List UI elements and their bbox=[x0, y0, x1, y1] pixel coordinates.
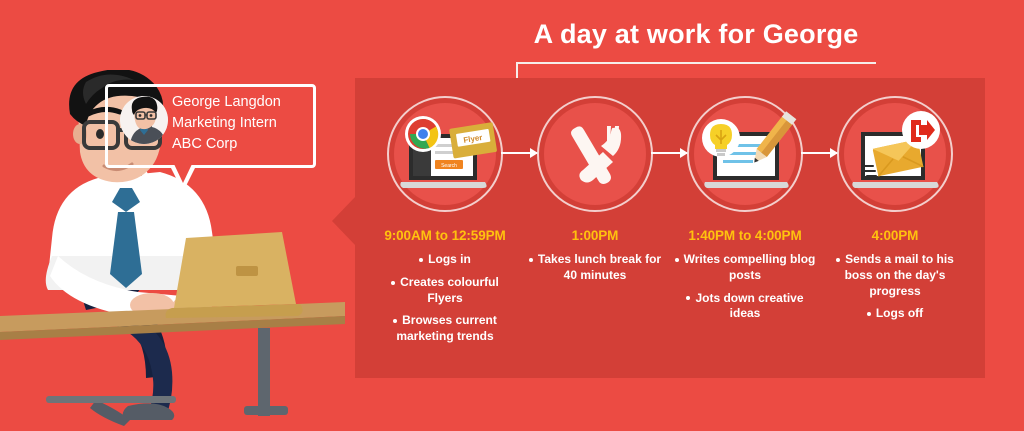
bullet-text: Creates colourful Flyers bbox=[400, 275, 499, 305]
step-2-icon-circle bbox=[537, 96, 653, 212]
bullet-text: Takes lunch break for 40 minutes bbox=[538, 252, 661, 282]
bullet-dot-icon bbox=[867, 312, 871, 316]
title-underline bbox=[516, 62, 876, 64]
timeline-step-3: 1:40PM to 4:00PM Writes compelling blog … bbox=[670, 96, 820, 329]
list-item: Jots down creative ideas bbox=[670, 291, 820, 323]
bullet-dot-icon bbox=[419, 258, 423, 262]
bullet-dot-icon bbox=[686, 296, 690, 300]
avatar bbox=[120, 96, 168, 144]
profile-company: ABC Corp bbox=[172, 134, 317, 155]
bullet-dot-icon bbox=[836, 258, 840, 262]
svg-text:Search: Search bbox=[441, 163, 457, 169]
step-3-icon-circle bbox=[687, 96, 803, 212]
timeline-step-2: 1:00PM Takes lunch break for 40 minutes bbox=[520, 96, 670, 291]
profile-info: George Langdon Marketing Intern ABC Corp bbox=[172, 92, 317, 155]
panel-pointer-notch bbox=[332, 196, 356, 246]
timeline-step-4: 4:00PM Sends a mail to his boss on the d… bbox=[820, 96, 970, 329]
step-2-bullets: Takes lunch break for 40 minutes bbox=[520, 252, 670, 284]
laptop-browser-flyer-icon: Search Flyer bbox=[387, 96, 503, 212]
step-4-time: 4:00PM bbox=[820, 228, 970, 243]
bullet-dot-icon bbox=[675, 258, 679, 262]
bullet-text: Logs in bbox=[428, 252, 471, 266]
timeline-step-1: Search Flyer 9:00AM to 12:59PM bbox=[370, 96, 520, 352]
step-4-bullets: Sends a mail to his boss on the day's pr… bbox=[820, 252, 970, 322]
step-1-icon-circle: Search Flyer bbox=[387, 96, 503, 212]
list-item: Creates colourful Flyers bbox=[370, 275, 520, 307]
bullet-text: Browses current marketing trends bbox=[396, 313, 497, 343]
laptop-lightbulb-pencil-icon bbox=[687, 96, 803, 212]
list-item: Sends a mail to his boss on the day's pr… bbox=[820, 252, 970, 299]
step-4-icon-circle bbox=[837, 96, 953, 212]
list-item: Writes compelling blog posts bbox=[670, 252, 820, 284]
list-item: Browses current marketing trends bbox=[370, 313, 520, 345]
list-item: Logs in bbox=[370, 252, 520, 268]
step-2-time: 1:00PM bbox=[520, 228, 670, 243]
list-item: Takes lunch break for 40 minutes bbox=[520, 252, 670, 284]
bullet-text: Jots down creative ideas bbox=[695, 291, 803, 321]
speech-bubble-tail-inner bbox=[174, 164, 192, 183]
bullet-dot-icon bbox=[391, 281, 395, 285]
fork-knife-icon bbox=[537, 96, 653, 212]
step-1-time: 9:00AM to 12:59PM bbox=[370, 228, 520, 243]
bullet-dot-icon bbox=[393, 319, 397, 323]
bullet-text: Writes compelling blog posts bbox=[684, 252, 816, 282]
laptop-envelope-logout-icon bbox=[837, 96, 953, 212]
step-1-bullets: Logs in Creates colourful Flyers Browses… bbox=[370, 252, 520, 345]
page-title: A day at work for George bbox=[516, 20, 876, 50]
infographic-canvas: George Langdon Marketing Intern ABC Corp… bbox=[0, 0, 1024, 426]
list-item: Logs off bbox=[820, 306, 970, 322]
bullet-dot-icon bbox=[529, 258, 533, 262]
profile-role: Marketing Intern bbox=[172, 113, 317, 134]
step-3-time: 1:40PM to 4:00PM bbox=[670, 228, 820, 243]
bullet-text: Sends a mail to his boss on the day's pr… bbox=[845, 252, 954, 298]
bullet-text: Logs off bbox=[876, 306, 923, 320]
profile-name: George Langdon bbox=[172, 92, 317, 113]
step-3-bullets: Writes compelling blog posts Jots down c… bbox=[670, 252, 820, 322]
